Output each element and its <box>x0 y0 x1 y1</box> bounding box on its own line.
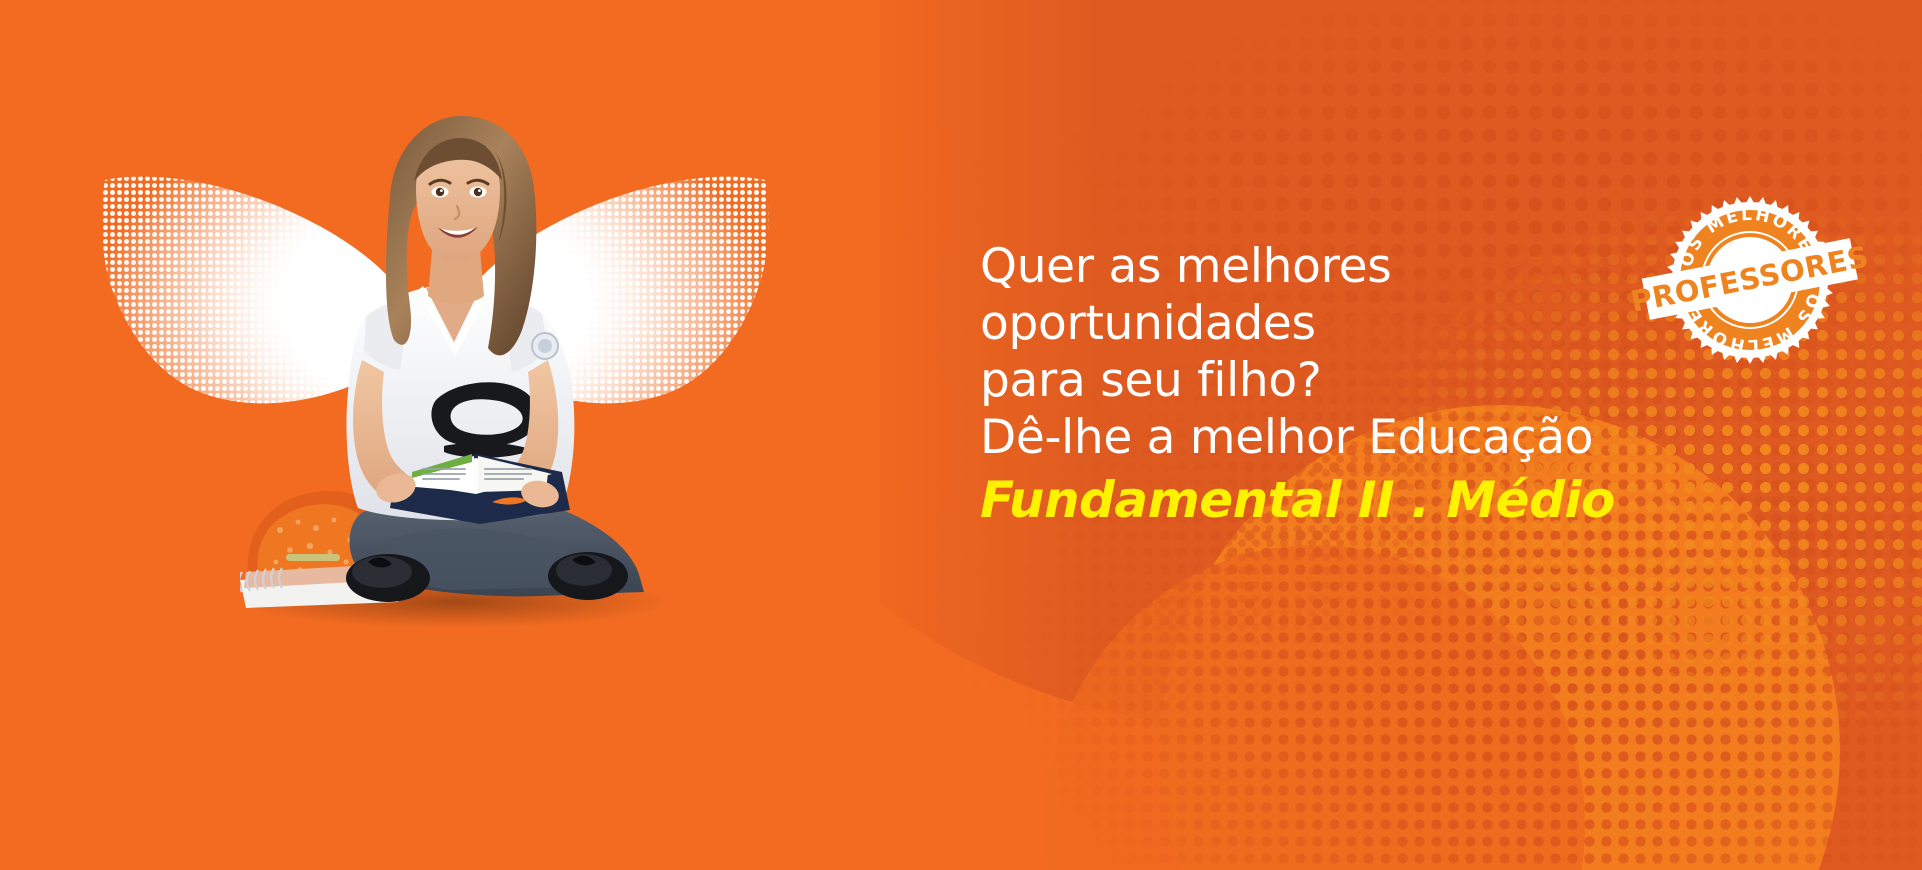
headline-line-4: Dê-lhe a melhor Educação <box>980 409 1760 466</box>
quality-seal-icon: OS MELHORES OS MELHORES PROFESSORES <box>1650 196 1850 364</box>
shoe-left <box>346 554 430 602</box>
student-photo <box>240 110 670 630</box>
headline-line-3: para seu filho? <box>980 352 1760 409</box>
shoe-right <box>548 552 628 600</box>
headline-highlight: Fundamental II . Médio <box>980 470 1615 530</box>
advertising-banner: Quer as melhores oportunidades para seu … <box>0 0 1922 870</box>
headline-block: Quer as melhores oportunidades para seu … <box>980 238 1760 466</box>
